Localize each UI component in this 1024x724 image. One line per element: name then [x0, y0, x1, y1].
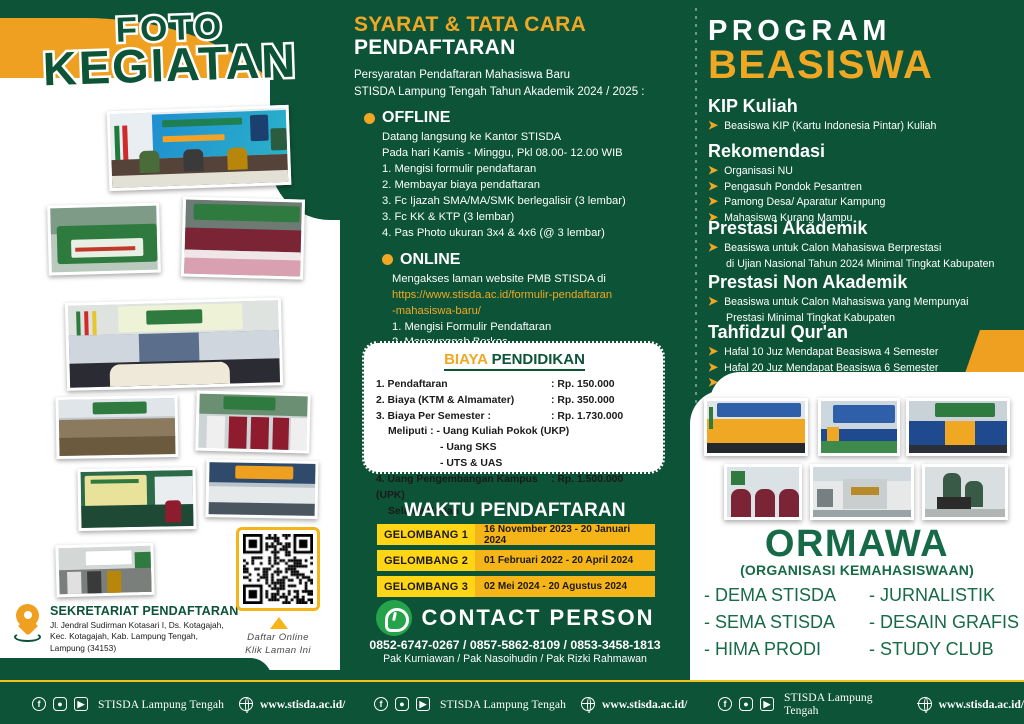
- footer-social-handle: STISDA Lampung Tengah: [98, 698, 224, 711]
- beasiswa-item: ➤ Beasiswa untuk Calon Mahasiswa Berpres…: [708, 241, 1018, 256]
- bullet-dot-icon: [382, 254, 393, 265]
- photo-students-laptop: [922, 464, 1008, 520]
- online-step1: 1. Mengisi Formulir Pendaftaran: [392, 320, 678, 336]
- beasiswa-heading: Rekomendasi: [708, 141, 1018, 162]
- qr-caption: Daftar Online Klik Laman Ini: [228, 632, 328, 658]
- beasiswa-heading: KIP Kuliah: [708, 96, 1018, 117]
- contact-person-header: CONTACT PERSON: [340, 600, 690, 636]
- photo-stage-ceremony-blue: [818, 398, 900, 456]
- gelombang-key: GELOMBANG 3: [377, 576, 475, 597]
- beasiswa-item-label: Beasiswa untuk Calon Mahasiswa yang Memp…: [724, 295, 1018, 310]
- photo-auditorium-students: [206, 459, 319, 519]
- chevron-right-icon: ➤: [708, 241, 718, 256]
- secretariat-address-line1: Jl. Jendral Sudirman Kotasari I, Ds. Kot…: [50, 620, 238, 631]
- beasiswa-item-label: Pamong Desa/ Aparatur Kampung: [724, 195, 1018, 210]
- footer-website[interactable]: www.stisda.ac.id/: [602, 698, 687, 711]
- photo-students-red-jackets: [195, 391, 311, 454]
- chevron-right-icon: ➤: [708, 295, 718, 310]
- offline-section-heading: OFFLINE: [364, 109, 678, 127]
- table-row: GELOMBANG 3 02 Mei 2024 - 20 Agustus 202…: [377, 576, 655, 597]
- ormawa-item: - STUDY CLUB: [869, 639, 1024, 660]
- beasiswa-item: ➤ Beasiswa KIP (Kartu Indonesia Pintar) …: [708, 119, 1018, 134]
- beasiswa-group-kip: KIP Kuliah ➤ Beasiswa KIP (Kartu Indones…: [708, 96, 1018, 135]
- biaya-row4-label: 4. Uang Pengembangan Kampus (UPK): [376, 472, 551, 504]
- beasiswa-item-label: Pengasuh Pondok Pesantren: [724, 180, 1018, 195]
- instagram-icon[interactable]: ●: [395, 697, 409, 711]
- ormawa-item: - JURNALISTIK: [869, 585, 1024, 606]
- photo-wisuda-yellow-robes: [704, 398, 808, 456]
- photo-students-studying-maroon: [724, 464, 802, 520]
- biaya-row: 3. Biaya Per Semester : : Rp. 1.730.000: [376, 409, 653, 425]
- chevron-right-icon: ➤: [708, 164, 718, 179]
- youtube-icon[interactable]: ▶: [74, 697, 88, 711]
- chevron-right-icon: ➤: [708, 119, 718, 134]
- offline-label: OFFLINE: [382, 109, 450, 127]
- online-label: ONLINE: [400, 251, 460, 269]
- online-intro: Mengakses laman website PMB STISDA di: [392, 272, 678, 288]
- ormawa-item: - DEMA STISDA: [704, 585, 869, 606]
- offline-line: Pada hari Kamis - Minggu, Pkl 08.00- 12.…: [382, 146, 678, 162]
- facebook-icon[interactable]: f: [374, 697, 388, 711]
- biaya-sub1: Meliputi : - Uang Kuliah Pokok (UKP): [388, 424, 653, 440]
- offline-line: 1. Mengisi formulir pendaftaran: [382, 162, 678, 178]
- youtube-icon[interactable]: ▶: [760, 697, 774, 711]
- ormawa-list: - DEMA STISDA - JURNALISTIK - SEMA STISD…: [690, 585, 1024, 660]
- beasiswa-item: ➤ Pengasuh Pondok Pesantren: [708, 180, 1018, 195]
- biaya-row-value: : Rp. 350.000: [551, 393, 653, 409]
- footer-segment-left: f ● ▶ STISDA Lampung Tengah www.stisda.a…: [32, 682, 345, 724]
- footer-segment-right: f ● ▶ STISDA Lampung Tengah www.stisda.a…: [718, 682, 1024, 724]
- instagram-icon[interactable]: ●: [739, 697, 753, 711]
- bullet-dot-icon: [364, 113, 375, 124]
- footer-segment-mid: f ● ▶ STISDA Lampung Tengah www.stisda.a…: [374, 682, 687, 724]
- biaya-row: 1. Pendaftaran : Rp. 150.000: [376, 377, 653, 393]
- beasiswa-item: ➤ Organisasi NU: [708, 164, 1018, 179]
- syarat-lead-line1: Persyaratan Pendaftaran Mahasiswa Baru: [354, 67, 678, 84]
- offline-line: Datang langsung ke Kantor STISDA: [382, 130, 678, 146]
- program-beasiswa-title: PROGRAM BEASISWA: [708, 18, 933, 84]
- chevron-right-icon: ➤: [708, 361, 718, 376]
- whatsapp-icon: [376, 600, 412, 636]
- program-title-line2: BEASISWA: [708, 46, 933, 84]
- program-title-line1: PROGRAM: [708, 18, 933, 46]
- beasiswa-item-label: Beasiswa KIP (Kartu Indonesia Pintar) Ku…: [724, 119, 1018, 134]
- qr-caption-line2: Klik Laman Ini: [228, 645, 328, 658]
- offline-line: 3. Fc KK & KTP (3 lembar): [382, 210, 678, 226]
- photo-hall-assembly: [55, 395, 178, 459]
- biaya-title: BIAYA PENDIDIKAN: [444, 351, 585, 371]
- secretariat-block: SEKRETARIAT PENDAFTARAN Jl. Jendral Sudi…: [14, 604, 238, 654]
- beasiswa-group-prestasi-non-akademik: Prestasi Non Akademik ➤ Beasiswa untuk C…: [708, 272, 1018, 325]
- biaya-title-yellow: BIAYA: [444, 351, 487, 368]
- offline-line: 2. Membayar biaya pendaftaran: [382, 178, 678, 194]
- table-row: GELOMBANG 2 01 Februari 2022 - 20 April …: [377, 550, 655, 571]
- beasiswa-heading: Prestasi Non Akademik: [708, 272, 1018, 293]
- syarat-title-line1: SYARAT & TATA CARA: [354, 14, 678, 36]
- left-panel-foto-kegiatan: FOTO KEGIATAN: [0, 0, 340, 724]
- online-section-heading: ONLINE: [382, 251, 678, 269]
- gelombang-key: GELOMBANG 2: [377, 550, 475, 571]
- biaya-row4-value: : Rp. 1.500.000: [551, 472, 653, 504]
- biaya-row-label: 3. Biaya Per Semester :: [376, 409, 551, 425]
- photo-kuliah-umum-bedah-buku: [107, 105, 292, 191]
- secretariat-heading: SEKRETARIAT PENDAFTARAN: [50, 604, 238, 618]
- chevron-right-icon: ➤: [708, 345, 718, 360]
- biaya-row-value: : Rp. 1.730.000: [551, 409, 653, 425]
- biaya-title-green: PENDIDIKAN: [492, 351, 585, 368]
- biaya-row-label: 1. Pendaftaran: [376, 377, 551, 393]
- gelombang-value: 02 Mei 2024 - 20 Agustus 2024: [475, 576, 655, 597]
- globe-icon: [581, 697, 595, 711]
- biaya-row: 2. Biaya (KTM & Almamater) : Rp. 350.000: [376, 393, 653, 409]
- table-row: GELOMBANG 1 16 November 2023 - 20 Januar…: [377, 524, 655, 545]
- foto-title-line2: KEGIATAN: [0, 39, 340, 90]
- contact-phones: 0852-6747-0267 / 0857-5862-8109 / 0853-3…: [340, 638, 690, 652]
- biaya-sub3: - UTS & UAS: [440, 456, 653, 472]
- contact-person-title: CONTACT PERSON: [422, 605, 655, 631]
- biaya-pendidikan-box: BIAYA PENDIDIKAN 1. Pendaftaran : Rp. 15…: [362, 341, 665, 474]
- photo-mou-signing: [55, 543, 154, 598]
- biaya-row-label: 2. Biaya (KTM & Almamater): [376, 393, 551, 409]
- waktu-pendaftaran-title: WAKTU PENDAFTARAN: [340, 500, 690, 522]
- instagram-icon[interactable]: ●: [53, 697, 67, 711]
- beasiswa-item-cont: di Ujian Nasional Tahun 2024 Minimal Tin…: [726, 257, 1018, 272]
- contact-names: Pak Kurniawan / Pak Nasoihudin / Pak Riz…: [340, 653, 690, 665]
- ormawa-item: - HIMA PRODI: [704, 639, 869, 660]
- chevron-right-icon: ➤: [708, 180, 718, 195]
- beasiswa-group-rekomendasi: Rekomendasi ➤ Organisasi NU ➤ Pengasuh P…: [708, 141, 1018, 226]
- beasiswa-heading: Prestasi Akademik: [708, 218, 1018, 239]
- gelombang-key: GELOMBANG 1: [377, 524, 475, 545]
- footer-curve-decoration: [0, 658, 272, 680]
- location-pin-icon: [14, 604, 41, 642]
- gelombang-value: 01 Februari 2022 - 20 April 2024: [475, 550, 655, 571]
- photo-seminar-kemahasiswaan: [77, 467, 196, 531]
- biaya-sub2: - Uang SKS: [440, 440, 653, 456]
- beasiswa-group-prestasi-akademik: Prestasi Akademik ➤ Beasiswa untuk Calon…: [708, 218, 1018, 271]
- mid-panel-syarat-tata-cara: SYARAT & TATA CARA PENDAFTARAN Persyarat…: [340, 0, 690, 724]
- secretariat-address-line2: Kec. Kotagajah, Kab. Lampung Tengah,: [50, 631, 238, 642]
- footer-website[interactable]: www.stisda.ac.id/: [260, 698, 345, 711]
- facebook-icon[interactable]: f: [718, 697, 732, 711]
- qr-caption-line1: Daftar Online: [228, 632, 328, 645]
- qr-arrow-icon: [270, 617, 288, 629]
- right-panel-program-beasiswa: PROGRAM BEASISWA KIP Kuliah ➤ Beasiswa K…: [690, 0, 1024, 724]
- youtube-icon[interactable]: ▶: [416, 697, 430, 711]
- beasiswa-item: ➤ Pamong Desa/ Aparatur Kampung: [708, 195, 1018, 210]
- beasiswa-item: ➤ Beasiswa untuk Calon Mahasiswa yang Me…: [708, 295, 1018, 310]
- footer-website[interactable]: www.stisda.ac.id/: [939, 698, 1024, 711]
- biaya-row: 4. Uang Pengembangan Kampus (UPK) : Rp. …: [376, 472, 653, 504]
- secretariat-address-line3: Lampung (34153): [50, 643, 238, 654]
- ormawa-title: ORMAWA: [690, 523, 1024, 566]
- online-url-line1[interactable]: https://www.stisda.ac.id/formulir-pendaf…: [392, 288, 678, 304]
- syarat-lead-line2: STISDA Lampung Tengah Tahun Akademik 202…: [354, 84, 678, 101]
- syarat-title-line2: PENDAFTARAN: [354, 36, 678, 59]
- photo-pbak-group-large: [65, 297, 283, 391]
- facebook-icon[interactable]: f: [32, 697, 46, 711]
- gelombang-value: 16 November 2023 - 20 Januari 2024: [475, 524, 655, 545]
- offline-line: 4. Pas Photo ukuran 3x4 & 4x6 (@ 3 lemba…: [382, 226, 678, 242]
- globe-icon: [239, 697, 253, 711]
- globe-icon: [918, 697, 932, 711]
- footer-social-handle: STISDA Lampung Tengah: [784, 691, 903, 717]
- foto-kegiatan-title: FOTO KEGIATAN: [0, 14, 340, 85]
- brochure-page: FOTO KEGIATAN: [0, 0, 1024, 724]
- offline-lines: Datang langsung ke Kantor STISDA Pada ha…: [382, 130, 678, 241]
- biaya-row-value: : Rp. 150.000: [551, 377, 653, 393]
- footer-social-handle: STISDA Lampung Tengah: [440, 698, 566, 711]
- ormawa-item: - SEMA STISDA: [704, 612, 869, 633]
- beasiswa-item-label: Organisasi NU: [724, 164, 1018, 179]
- ormawa-subtitle: (ORGANISASI KEMAHASISWAAN): [690, 562, 1024, 578]
- footer-bar: f ● ▶ STISDA Lampung Tengah www.stisda.a…: [0, 680, 1024, 724]
- photo-class-group-maroon: [181, 196, 305, 279]
- photo-group-orange-uniform: [906, 398, 1010, 456]
- qr-code[interactable]: [236, 527, 320, 611]
- ormawa-block: ORMAWA (ORGANISASI KEMAHASISWAAN) - DEMA…: [690, 523, 1024, 660]
- chevron-right-icon: ➤: [708, 195, 718, 210]
- online-url-line2[interactable]: -mahasiswa-baru/: [392, 304, 678, 320]
- qr-code-canvas: [243, 534, 313, 604]
- offline-line: 3. Fc Ijazah SMA/MA/SMK berlegalisir (3 …: [382, 194, 678, 210]
- photo-campus-building: [810, 464, 914, 520]
- beasiswa-item-label: Beasiswa untuk Calon Mahasiswa Berpresta…: [724, 241, 1018, 256]
- photo-wisuda-group-green: [47, 203, 161, 276]
- waktu-table: GELOMBANG 1 16 November 2023 - 20 Januar…: [377, 524, 655, 602]
- beasiswa-heading: Tahfidzul Qur'an: [708, 322, 1018, 343]
- ormawa-item: - DESAIN GRAFIS: [869, 612, 1024, 633]
